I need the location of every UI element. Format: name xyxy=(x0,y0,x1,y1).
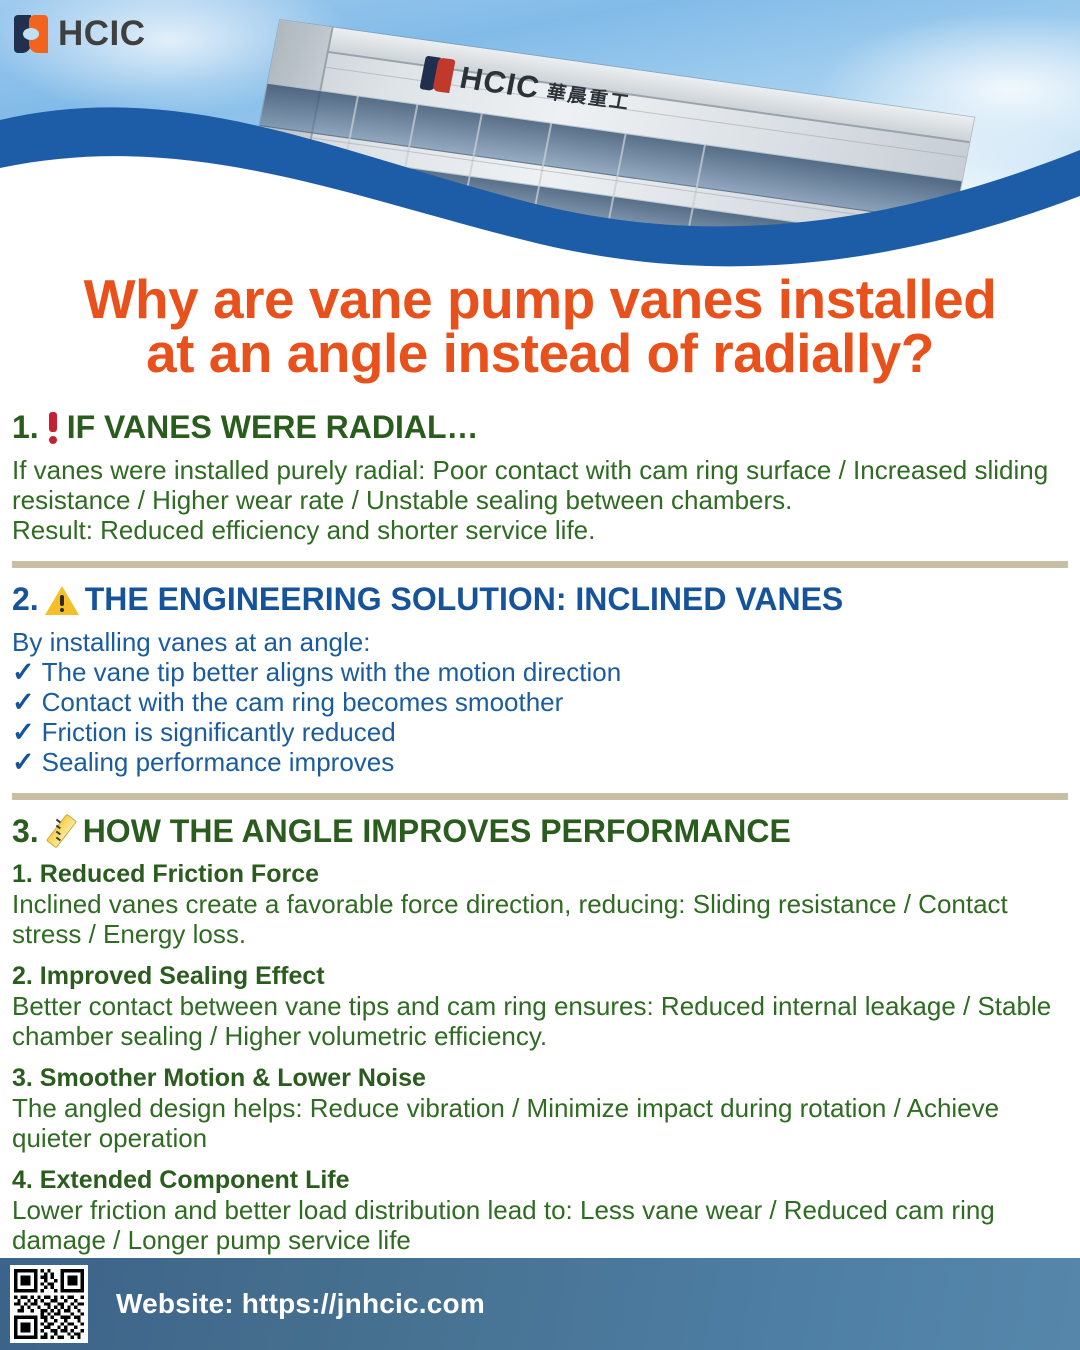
section-1-heading: 1. IF VANES WERE RADIAL… xyxy=(12,408,1068,446)
hcic-logo: HCIC xyxy=(14,14,146,54)
section-1-number: 1. xyxy=(12,408,39,446)
list-item-label: Sealing performance improves xyxy=(42,747,395,777)
subsection-4-title: 4. Extended Component Life xyxy=(12,1165,1068,1195)
hcic-logo-mark-icon xyxy=(14,15,48,53)
section-1-result: Result: Reduced efficiency and shorter s… xyxy=(12,515,1068,545)
hcic-logo-text: HCIC xyxy=(58,14,146,54)
subsection-1: 1. Reduced Friction Force Inclined vanes… xyxy=(12,859,1068,949)
section-2-heading-text: THE ENGINEERING SOLUTION: INCLINED VANES xyxy=(85,580,844,618)
page-title: Why are vane pump vanes installed at an … xyxy=(0,272,1080,380)
section-divider xyxy=(12,561,1068,568)
hero-banner: HCIC 華晨重工 HCIC xyxy=(0,0,1080,268)
page-title-line2: at an angle instead of radially? xyxy=(14,326,1066,380)
website-link[interactable]: Website: https://jnhcic.com xyxy=(116,1288,485,1320)
qr-code-icon[interactable] xyxy=(10,1265,88,1343)
check-icon: ✓ xyxy=(12,687,35,717)
ruler-icon xyxy=(45,815,77,847)
section-1-heading-text: IF VANES WERE RADIAL… xyxy=(67,408,479,446)
list-item-label: Contact with the cam ring becomes smooth… xyxy=(42,687,564,717)
section-2: 2. THE ENGINEERING SOLUTION: INCLINED VA… xyxy=(12,580,1068,777)
section-1: 1. IF VANES WERE RADIAL… If vanes were i… xyxy=(12,408,1068,545)
section-2-bullet-list: ✓ The vane tip better aligns with the mo… xyxy=(12,657,1068,777)
list-item-label: Friction is significantly reduced xyxy=(42,717,396,747)
section-3-heading: 3. HOW THE ANGLE IMPROVES PERFORMANCE xyxy=(12,812,1068,850)
subsection-3: 3. Smoother Motion & Lower Noise The ang… xyxy=(12,1063,1068,1153)
subsection-2-text: Better contact between vane tips and cam… xyxy=(12,991,1068,1051)
subsection-2-title: 2. Improved Sealing Effect xyxy=(12,961,1068,991)
page-title-line1: Why are vane pump vanes installed xyxy=(14,272,1066,326)
list-item-label: The vane tip better aligns with the moti… xyxy=(42,657,622,687)
section-2-lead: By installing vanes at an angle: xyxy=(12,627,1068,657)
blue-wave-divider xyxy=(0,0,1080,268)
check-icon: ✓ xyxy=(12,657,35,687)
check-icon: ✓ xyxy=(12,747,35,777)
check-icon: ✓ xyxy=(12,717,35,747)
subsection-3-title: 3. Smoother Motion & Lower Noise xyxy=(12,1063,1068,1093)
section-3-number: 3. xyxy=(12,812,39,850)
subsection-2: 2. Improved Sealing Effect Better contac… xyxy=(12,961,1068,1051)
section-1-body: If vanes were installed purely radial: P… xyxy=(12,455,1068,515)
section-2-heading: 2. THE ENGINEERING SOLUTION: INCLINED VA… xyxy=(12,580,1068,618)
footer-bar: Website: https://jnhcic.com xyxy=(0,1258,1080,1350)
list-item: ✓ Friction is significantly reduced xyxy=(12,717,1068,747)
list-item: ✓ Contact with the cam ring becomes smoo… xyxy=(12,687,1068,717)
list-item: ✓ Sealing performance improves xyxy=(12,747,1068,777)
subsection-4-text: Lower friction and better load distribut… xyxy=(12,1195,1068,1255)
subsection-1-title: 1. Reduced Friction Force xyxy=(12,859,1068,889)
section-divider xyxy=(12,793,1068,800)
subsection-4: 4. Extended Component Life Lower frictio… xyxy=(12,1165,1068,1255)
subsection-3-text: The angled design helps: Reduce vibratio… xyxy=(12,1093,1068,1153)
warning-triangle-icon xyxy=(45,584,79,615)
list-item: ✓ The vane tip better aligns with the mo… xyxy=(12,657,1068,687)
section-3-heading-text: HOW THE ANGLE IMPROVES PERFORMANCE xyxy=(83,812,791,850)
red-exclamation-icon xyxy=(45,412,61,443)
content-sheet: 1. IF VANES WERE RADIAL… If vanes were i… xyxy=(0,408,1080,1255)
section-3: 3. HOW THE ANGLE IMPROVES PERFORMANCE 1.… xyxy=(12,812,1068,1255)
section-2-number: 2. xyxy=(12,580,39,618)
subsection-1-text: Inclined vanes create a favorable force … xyxy=(12,889,1068,949)
